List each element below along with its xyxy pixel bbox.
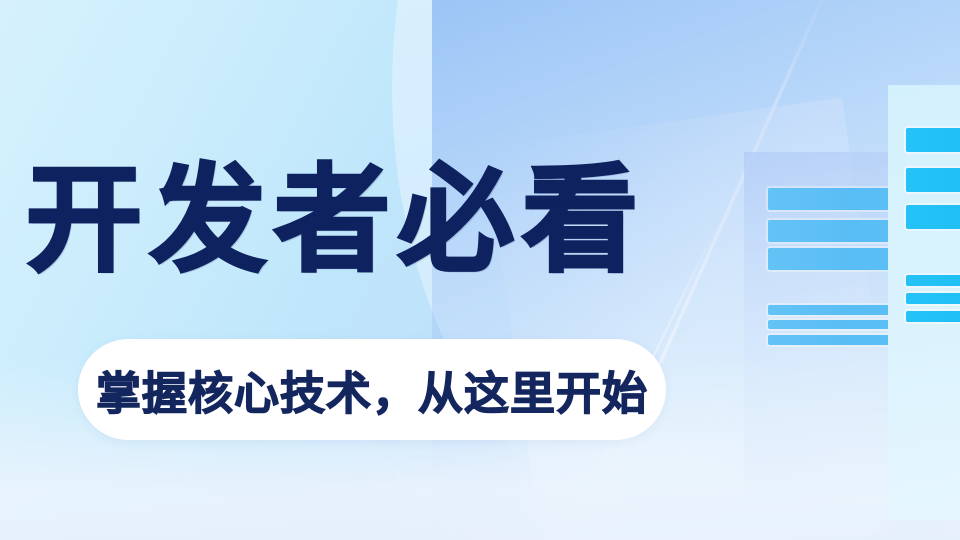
banner-title: 开发者必看 [26,158,766,283]
card-bar [768,220,900,242]
document-card-middle [744,152,900,505]
card-bar [768,248,900,270]
card-bar [768,320,900,329]
document-card-right [888,85,960,520]
card-bar [906,293,960,304]
card-bar [768,305,900,315]
card-bar [768,188,900,210]
card-bar [906,168,960,192]
card-bar [906,311,960,322]
banner-subtitle: 掌握核心技术，从这里开始 [96,357,648,422]
card-bar [906,275,960,286]
subtitle-pill: 掌握核心技术，从这里开始 [78,339,666,440]
card-bar [906,128,960,152]
card-bar [768,335,900,345]
card-bar [906,205,960,229]
promo-banner: 开发者必看 掌握核心技术，从这里开始 [0,0,960,540]
